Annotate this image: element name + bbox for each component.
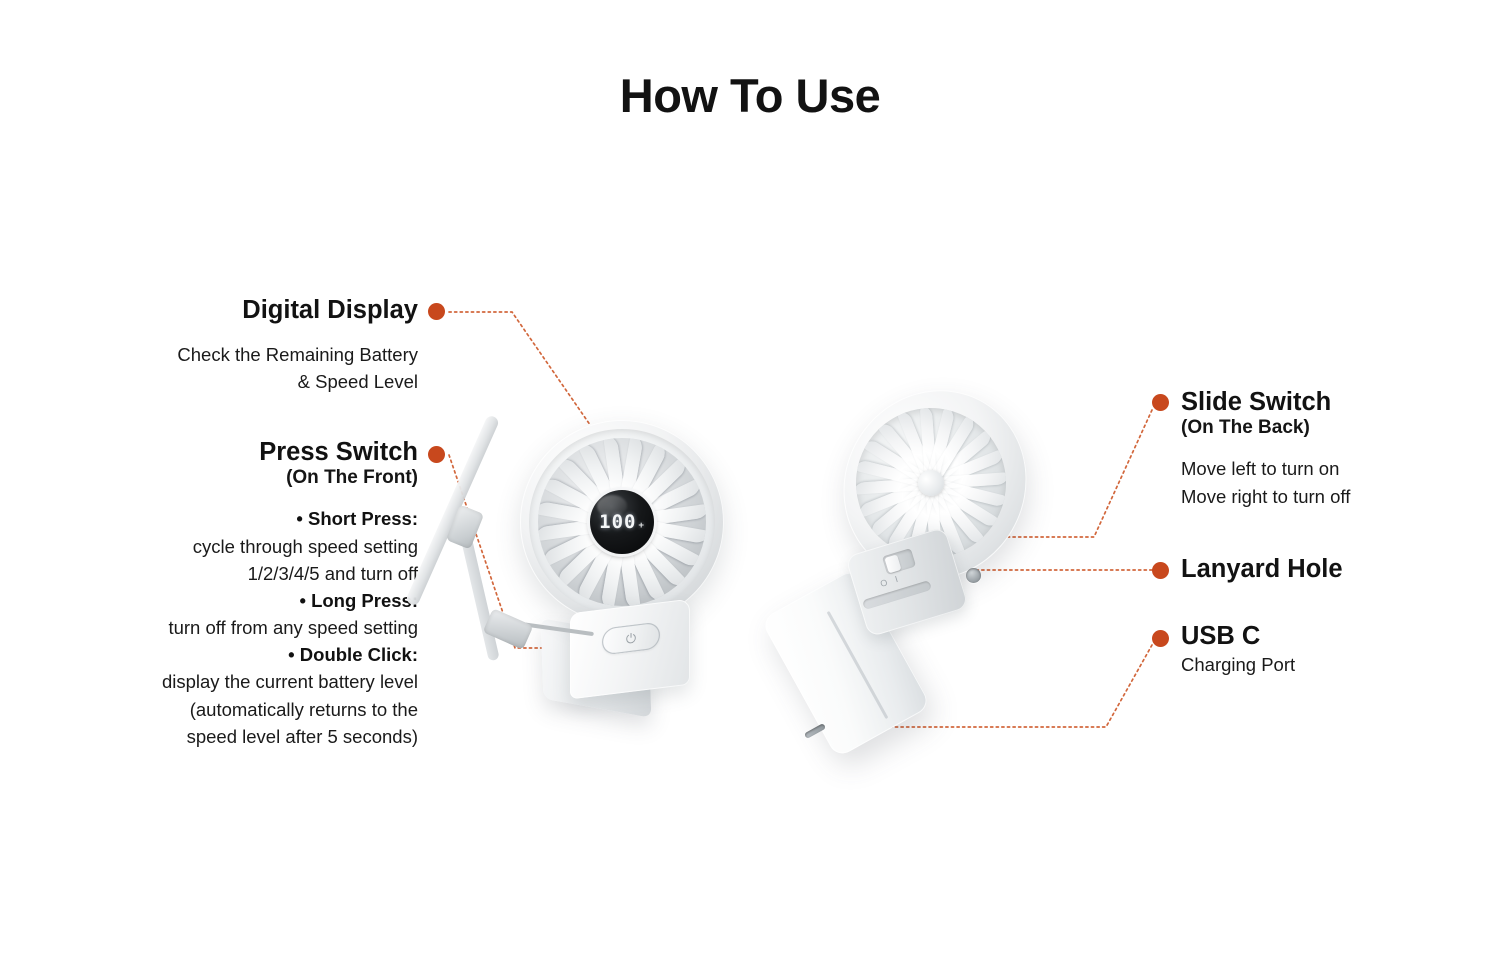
callout-press-switch: Press Switch (On The Front) • Short Pres…: [20, 438, 418, 750]
product-image-back-view: O I: [780, 392, 1060, 752]
body-line: Move right to turn off: [1181, 483, 1481, 510]
body-line: & Speed Level: [40, 368, 418, 395]
body-line: Check the Remaining Battery: [40, 341, 418, 368]
bullet-item: • Long Press: turn off from any speed se…: [20, 587, 418, 641]
bullet-item: • Short Press: cycle through speed setti…: [20, 505, 418, 587]
body-line: cycle through speed setting: [20, 533, 418, 560]
body-line: turn off from any speed setting: [20, 614, 418, 641]
marker-dot-press-switch[interactable]: [428, 446, 445, 463]
marker-dot-usb-c[interactable]: [1152, 630, 1169, 647]
bullet-label: • Double Click:: [288, 644, 418, 665]
callout-slide-switch: Slide Switch (On The Back) Move left to …: [1181, 388, 1481, 510]
battery-percent-value: 100: [599, 511, 636, 533]
body-line: speed level after 5 seconds): [20, 723, 418, 750]
body-line: Move left to turn on: [1181, 455, 1481, 482]
callout-heading: Press Switch: [20, 438, 418, 467]
body-line: (automatically returns to the: [20, 696, 418, 723]
callout-subheading: (On The Back): [1181, 417, 1481, 440]
marker-dot-digital-display[interactable]: [428, 303, 445, 320]
power-icon: ⏻: [626, 630, 636, 647]
callout-digital-display: Digital Display Check the Remaining Batt…: [40, 296, 418, 395]
display-readout: 100 +: [599, 511, 645, 533]
callout-heading: Slide Switch: [1181, 388, 1481, 417]
callout-body: Move left to turn on Move right to turn …: [1181, 455, 1481, 509]
body-line: 1/2/3/4/5 and turn off: [20, 560, 418, 587]
callout-body: • Short Press: cycle through speed setti…: [20, 505, 418, 750]
callout-subheading: (On The Front): [20, 467, 418, 490]
callout-usb-c: USB C Charging Port: [1181, 622, 1481, 678]
fan-grille: 100 +: [538, 438, 706, 606]
infographic-page: How To Use Digital Display Check the Rem…: [0, 0, 1500, 972]
body-line: display the current battery level: [20, 668, 418, 695]
callout-heading: Lanyard Hole: [1181, 555, 1481, 584]
body-line: Charging Port: [1181, 651, 1481, 678]
callout-heading: USB C: [1181, 622, 1481, 651]
page-title: How To Use: [0, 68, 1500, 123]
product-image-front-view: 100 + ⏻: [498, 420, 758, 750]
lanyard-hole-icon: [966, 568, 981, 583]
bullet-item: • Double Click: display the current batt…: [20, 641, 418, 750]
bullet-label: • Long Press:: [299, 590, 418, 611]
callout-body: Check the Remaining Battery & Speed Leve…: [40, 341, 418, 395]
callout-body: Charging Port: [1181, 651, 1481, 678]
marker-dot-lanyard-hole[interactable]: [1152, 562, 1169, 579]
marker-dot-slide-switch[interactable]: [1152, 394, 1169, 411]
slide-switch-knob[interactable]: [884, 554, 901, 573]
callout-lanyard-hole: Lanyard Hole: [1181, 555, 1481, 584]
digital-display: 100 +: [590, 490, 654, 554]
callout-heading: Digital Display: [40, 296, 418, 325]
bullet-label: • Short Press:: [296, 508, 418, 529]
lanyard-strap: [405, 414, 500, 607]
display-plus-mark: +: [638, 521, 644, 531]
